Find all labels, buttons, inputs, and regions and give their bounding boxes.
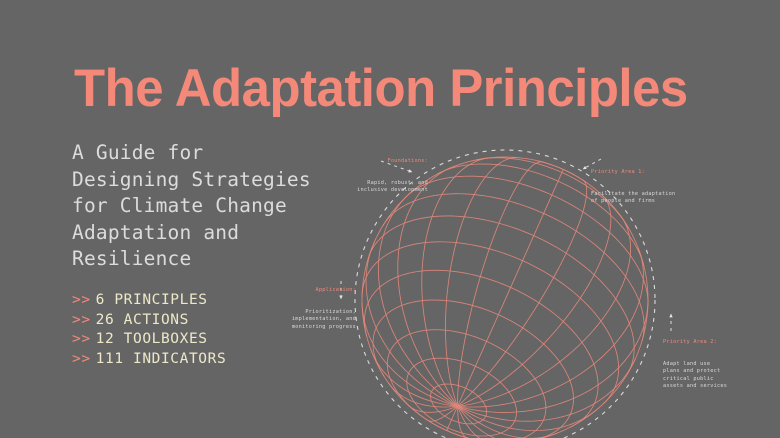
callout-priority-area-2: Priority Area 2: Adapt land use plans an… (663, 324, 773, 405)
cover-page: The Adaptation Principles A Guide for De… (0, 0, 780, 438)
callout-application-body: Prioritization, implementation, and moni… (252, 309, 356, 331)
chevron-marker-icon: >> (72, 331, 91, 347)
key-figure-label: 26 ACTIONS (96, 312, 189, 328)
key-figures-list: >>6 PRINCIPLES>>26 ACTIONS>>12 TOOLBOXES… (72, 291, 226, 369)
chevron-marker-icon: >> (72, 312, 91, 328)
key-figure-label: 111 INDICATORS (96, 351, 227, 367)
key-figure-label: 6 PRINCIPLES (96, 292, 208, 308)
callout-priority-area-1-body: Facilitate the adaptation of people and … (591, 191, 711, 206)
key-figure-row: >>6 PRINCIPLES (72, 291, 226, 311)
callout-priority-area-2-heading: Priority Area 2: (663, 339, 773, 346)
key-figure-row: >>26 ACTIONS (72, 311, 226, 331)
chevron-marker-icon: >> (72, 292, 91, 308)
callout-priority-area-2-body: Adapt land use plans and protect critica… (663, 361, 773, 391)
callout-priority-area-1-heading: Priority Area 1: (591, 169, 711, 176)
page-subtitle: A Guide for Designing Strategies for Cli… (72, 140, 311, 273)
callout-priority-area-1: Priority Area 1: Facilitate the adaptati… (591, 154, 711, 221)
callout-foundations: Foundations: Rapid, robust, and inclusiv… (318, 143, 428, 210)
page-title: The Adaptation Principles (74, 60, 688, 118)
callout-application: Application: Prioritization, implementat… (252, 272, 356, 346)
key-figure-label: 12 TOOLBOXES (96, 331, 208, 347)
key-figure-row: >>111 INDICATORS (72, 350, 226, 370)
callout-foundations-body: Rapid, robust, and inclusive development (318, 180, 428, 195)
chevron-marker-icon: >> (72, 351, 91, 367)
callout-foundations-heading: Foundations: (318, 158, 428, 165)
callout-application-heading: Application: (252, 287, 356, 294)
key-figure-row: >>12 TOOLBOXES (72, 330, 226, 350)
